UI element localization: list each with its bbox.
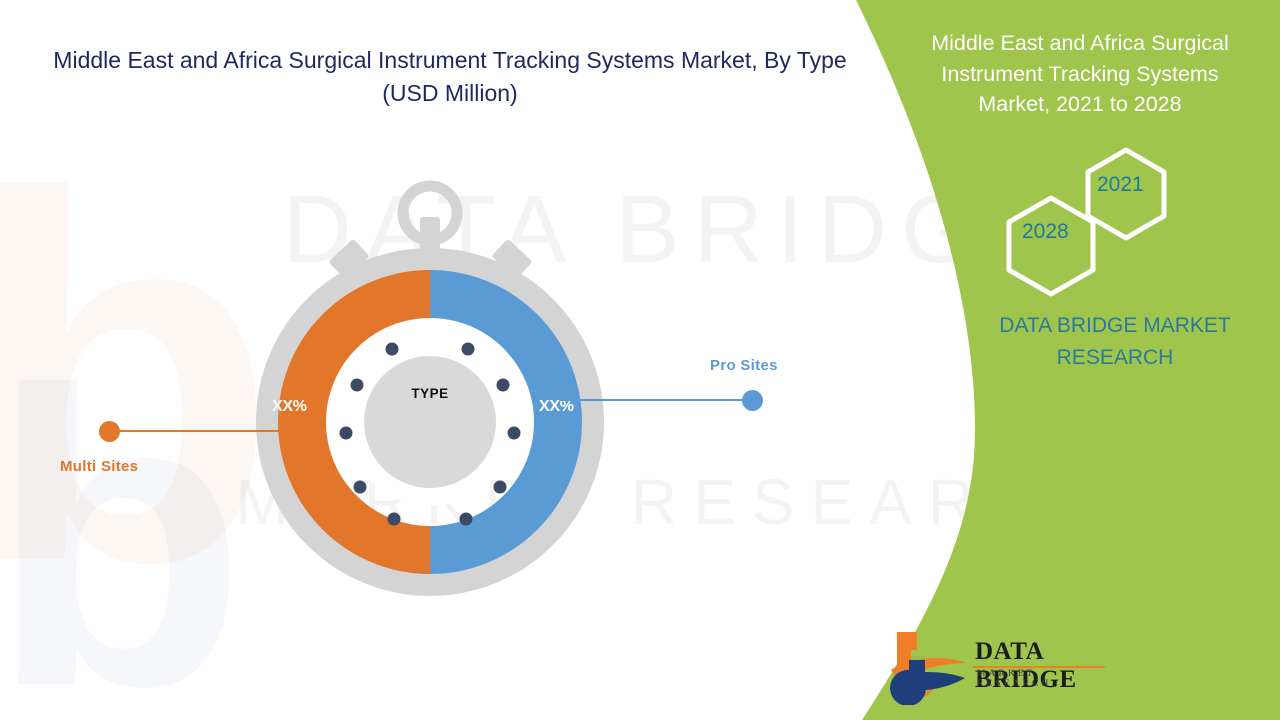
stopwatch-crown-icon bbox=[403, 186, 457, 257]
center-hub bbox=[364, 356, 496, 488]
leader-dot-pro-sites bbox=[742, 390, 763, 411]
donut-chart-svg bbox=[240, 175, 620, 600]
page-title: Middle East and Africa Surgical Instrume… bbox=[30, 44, 870, 109]
data-bridge-logo: DATA BRIDGE MARKET RESEARCH bbox=[885, 630, 1110, 705]
donut-chart: TYPE bbox=[240, 175, 620, 600]
infographic-canvas: b b DATA BRIDGE MARKET RESEARCH Middle E… bbox=[0, 0, 1280, 720]
value-label-multi-sites: XX% bbox=[272, 398, 307, 416]
legend-label-multi-sites: Multi Sites bbox=[60, 458, 138, 475]
hexagon-2021-label: 2021 bbox=[1097, 173, 1144, 197]
panel-title: Middle East and Africa Surgical Instrume… bbox=[905, 28, 1255, 120]
logo-subtitle: MARKET RESEARCH bbox=[977, 669, 1110, 689]
leader-line-pro-sites bbox=[560, 399, 750, 401]
leader-dot-multi-sites bbox=[99, 421, 120, 442]
legend-label-pro-sites: Pro Sites bbox=[710, 357, 778, 374]
brand-name: DATA BRIDGE MARKET RESEARCH bbox=[965, 310, 1265, 374]
leader-line-multi-sites bbox=[118, 430, 288, 432]
hexagon-2028-label: 2028 bbox=[1022, 220, 1069, 244]
